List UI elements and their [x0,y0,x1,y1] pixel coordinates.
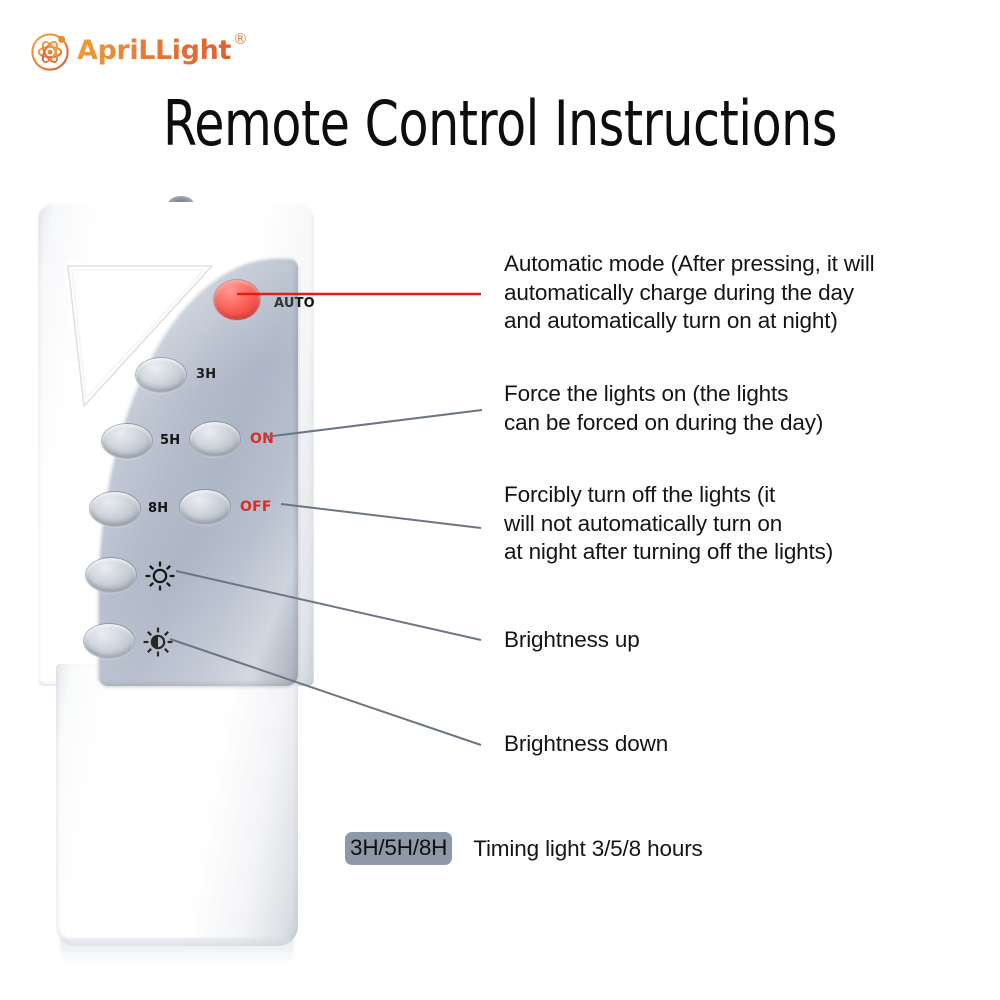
button-off[interactable] [180,490,230,524]
button-timer-3h[interactable] [136,358,186,392]
brand-name: ApriLLight [77,28,231,74]
registered-trademark-icon: ® [233,28,248,50]
button-label-timer-3h: 3H [196,368,216,382]
annotation-brightness-down: Brightness down [504,730,668,759]
button-label-timer-5h: 5H [160,434,180,448]
button-brightness-down[interactable] [84,624,134,658]
brand-logo: ApriLLight ® [30,28,248,76]
remote-lower-body [56,664,298,946]
sun-bright-icon [144,560,176,592]
page-title: Remote Control Instructions [60,88,940,160]
button-label-timer-8h: 8H [148,502,168,516]
annotation-on: Force the lights on (the lights can be f… [504,380,823,437]
annotation-auto: Automatic mode (After pressing, it will … [504,250,875,336]
sun-dim-icon [142,626,174,658]
button-on[interactable] [190,422,240,456]
button-label-on: ON [250,432,274,446]
status-badge-timing: 3H/5H/8H [345,832,452,865]
remote-control-illustration: AUTO 3H 5H ON 8H OFF [38,196,314,956]
button-label-off: OFF [240,500,272,514]
button-label-auto: AUTO [274,297,315,311]
button-brightness-up[interactable] [86,558,136,592]
timing-legend-row: 3H/5H/8H Timing light 3/5/8 hours [345,832,703,865]
button-timer-8h[interactable] [90,492,140,526]
button-auto[interactable] [214,280,260,320]
timing-legend-label: Timing light 3/5/8 hours [473,835,702,863]
remote-reflection [60,938,294,966]
atom-logo-icon [30,30,72,72]
annotation-off: Forcibly turn off the lights (it will no… [504,481,833,567]
annotation-brightness-up: Brightness up [504,626,640,655]
button-timer-5h[interactable] [102,424,152,458]
